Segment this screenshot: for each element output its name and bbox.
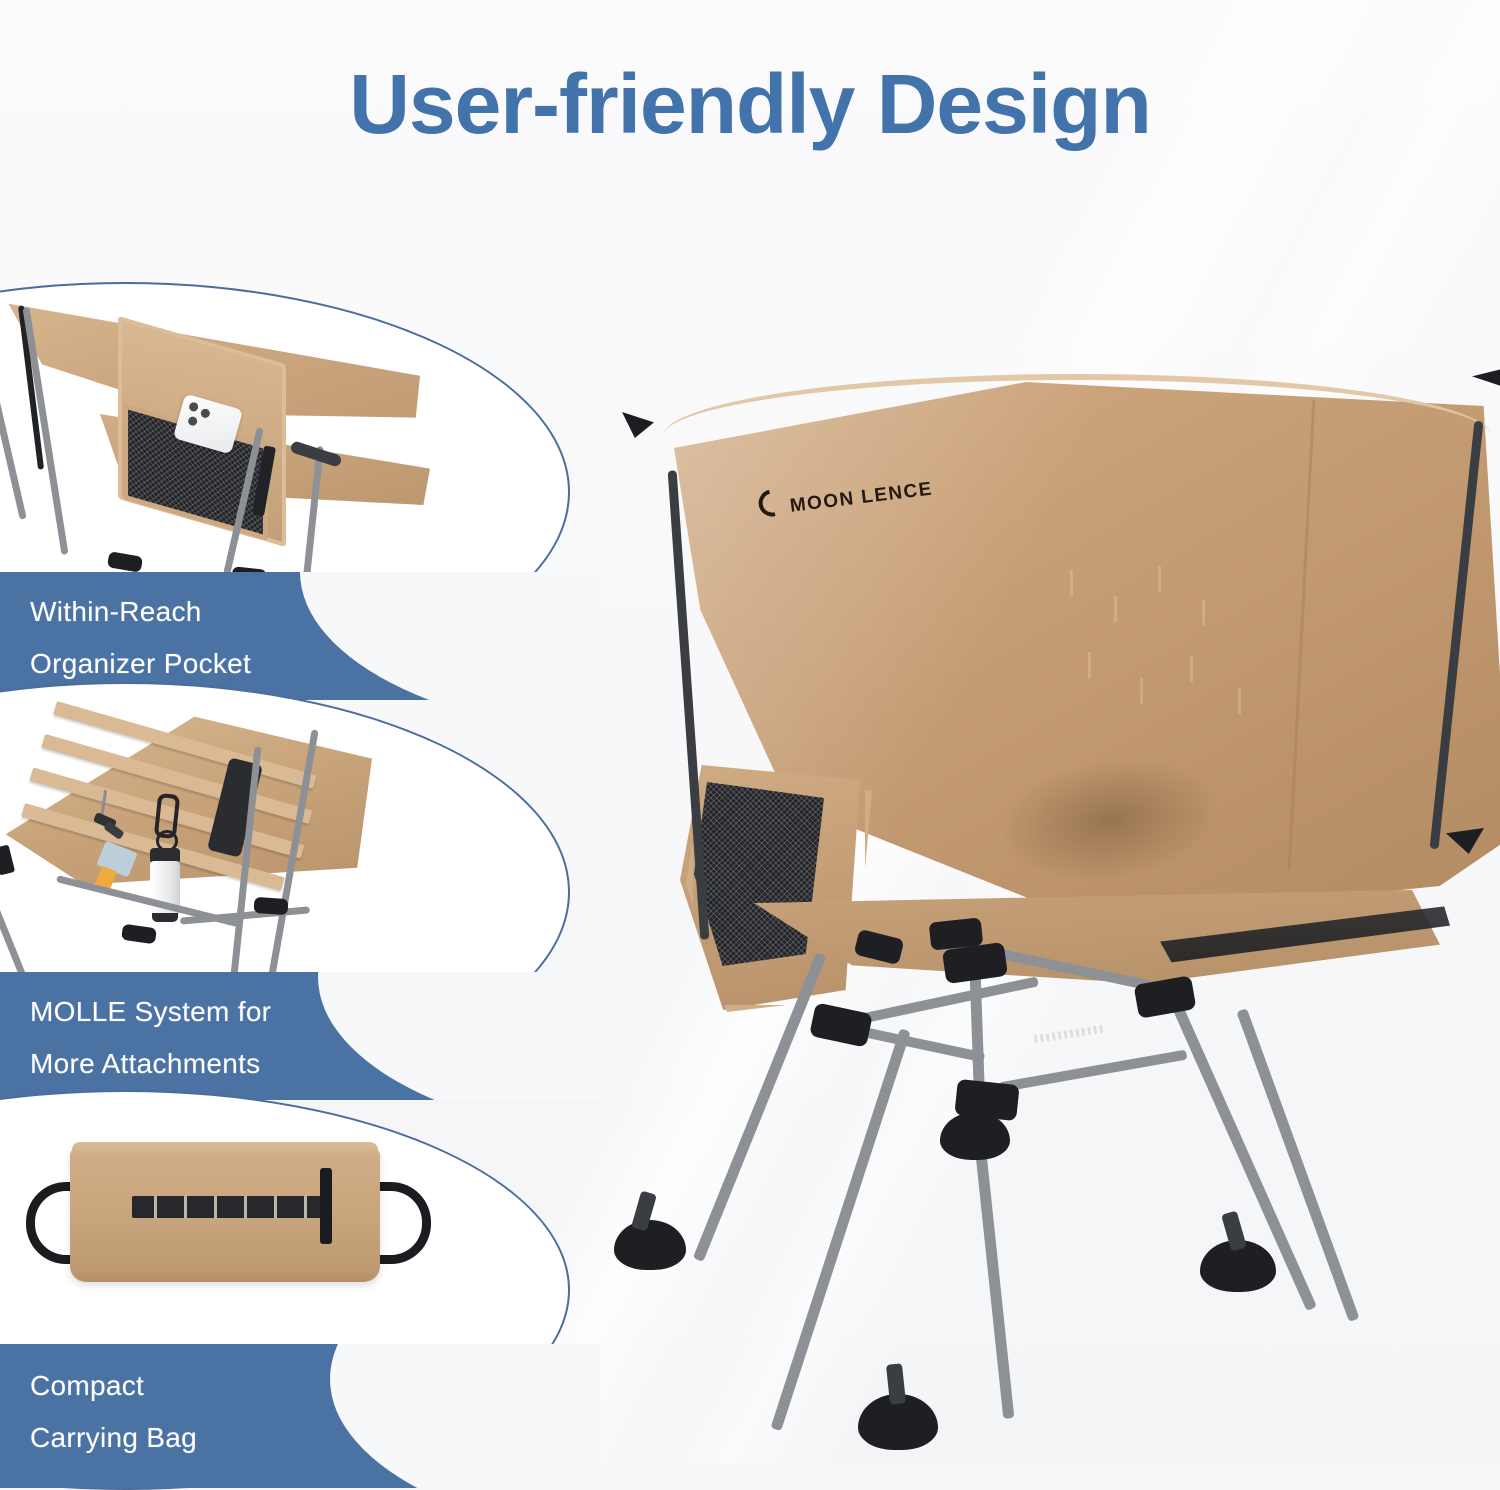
corner-cap-right [1472,368,1500,396]
feature-caption-band-3: Compact Carrying Bag [0,1344,600,1488]
corner-strap [0,844,15,875]
frame-hub-right [253,897,288,915]
feature-molle-system: MOLLE System for More Attachments [0,688,600,1098]
frame-hub-left [107,551,143,573]
frame-brand-marking [1034,1025,1104,1044]
backrest-stitch-marks [1070,560,1300,750]
feature-caption-line1: MOLLE System for [30,998,271,1026]
feature-caption-line1: Compact [30,1372,144,1400]
chair-frame-crossbar-2 [180,906,310,924]
foot-tip-center [886,1363,906,1404]
seat-skirt [740,890,1440,1020]
page-title: User-friendly Design [0,62,1500,146]
leg-front-right [972,1119,1014,1419]
feature-list: Within-Reach Organizer Pocket [0,290,600,1464]
crossbar-left-back [851,976,1039,1025]
feature-caption-line2: Carrying Bag [30,1424,197,1452]
lantern-cap [150,848,180,862]
foot-front-left [614,1220,686,1270]
feature-caption-line2: Organizer Pocket [30,650,251,678]
feature-caption-line1: Within-Reach [30,598,202,626]
feature-caption-line2: More Attachments [30,1050,260,1078]
bag-lid-rim [72,1142,378,1158]
bag-side-tab-right [320,1168,332,1244]
feature-carrying-bag: Compact Carrying Bag [0,1090,600,1464]
bag-webbing-strap [132,1196,330,1218]
band-curve-cut [330,1344,600,1488]
hero-product-image: MOON LENCE [600,330,1500,1460]
frame-hub-left [121,924,157,945]
feature-caption-band-2: MOLLE System for More Attachments [0,972,600,1100]
band-curve-cut [318,972,600,1100]
crossbar-right-front [999,1050,1188,1093]
hub-left [809,1002,873,1047]
lantern-base [152,913,178,922]
backrest-top-piping [662,374,1492,450]
band-curve-cut [300,572,600,700]
feature-organizer-pocket: Within-Reach Organizer Pocket [0,290,600,700]
feature-photo-carrying-bag [20,1120,460,1340]
feature-photo-molle-system [0,698,460,998]
hub-seat-right [929,917,984,950]
feature-caption-band-1: Within-Reach Organizer Pocket [0,572,600,700]
bag-bottom-rim [74,1268,376,1282]
feature-photo-organizer-pocket [0,296,460,596]
corner-cap-left [622,412,654,438]
